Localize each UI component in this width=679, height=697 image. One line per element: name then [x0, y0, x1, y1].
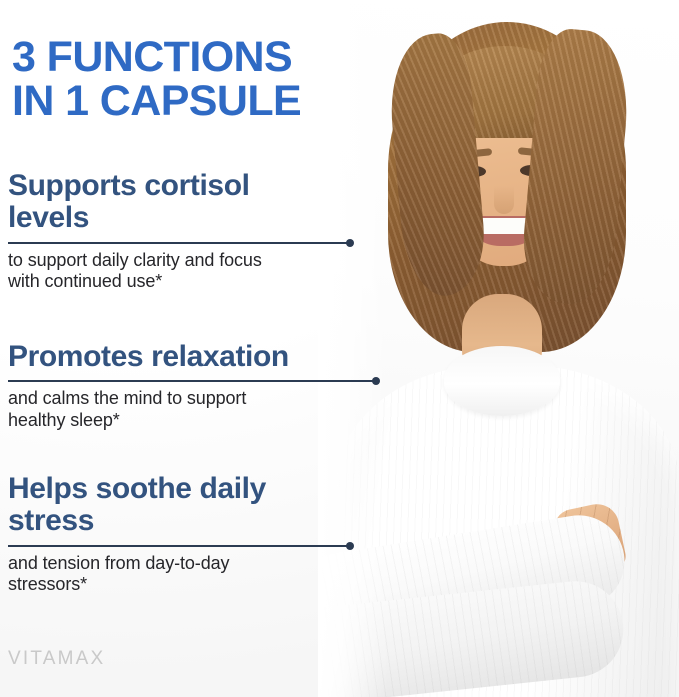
divider-line	[8, 545, 348, 547]
divider-line	[8, 380, 374, 382]
benefit-block-2: Promotes relaxation and calms the mind t…	[8, 341, 368, 431]
divider-end-dot	[346, 239, 354, 247]
benefit-block-1: Supports cortisol levels to support dail…	[8, 170, 368, 292]
divider-end-dot	[372, 377, 380, 385]
benefit-block-3: Helps soothe daily stress and tension fr…	[8, 473, 368, 595]
benefit-title-2: Promotes relaxation	[8, 341, 368, 373]
benefit-title-3: Helps soothe daily stress	[8, 473, 368, 538]
divider-end-dot	[346, 542, 354, 550]
content-layer: 3 FUNCTIONS IN 1 CAPSULE Supports cortis…	[0, 0, 679, 697]
benefit-divider-3	[8, 541, 368, 551]
benefit-divider-2	[8, 376, 368, 386]
benefit-divider-1	[8, 238, 368, 248]
benefit-subtitle-2: and calms the mind to support healthy sl…	[8, 388, 368, 430]
benefit-subtitle-1: to support daily clarity and focus with …	[8, 250, 368, 292]
page-title: 3 FUNCTIONS IN 1 CAPSULE	[12, 36, 392, 124]
divider-line	[8, 242, 348, 244]
brand-logo: VITAMAX	[8, 648, 105, 670]
benefit-title-1: Supports cortisol levels	[8, 170, 368, 235]
benefit-subtitle-3: and tension from day-to-day stressors*	[8, 553, 368, 595]
product-infographic: 3 FUNCTIONS IN 1 CAPSULE Supports cortis…	[0, 0, 679, 697]
